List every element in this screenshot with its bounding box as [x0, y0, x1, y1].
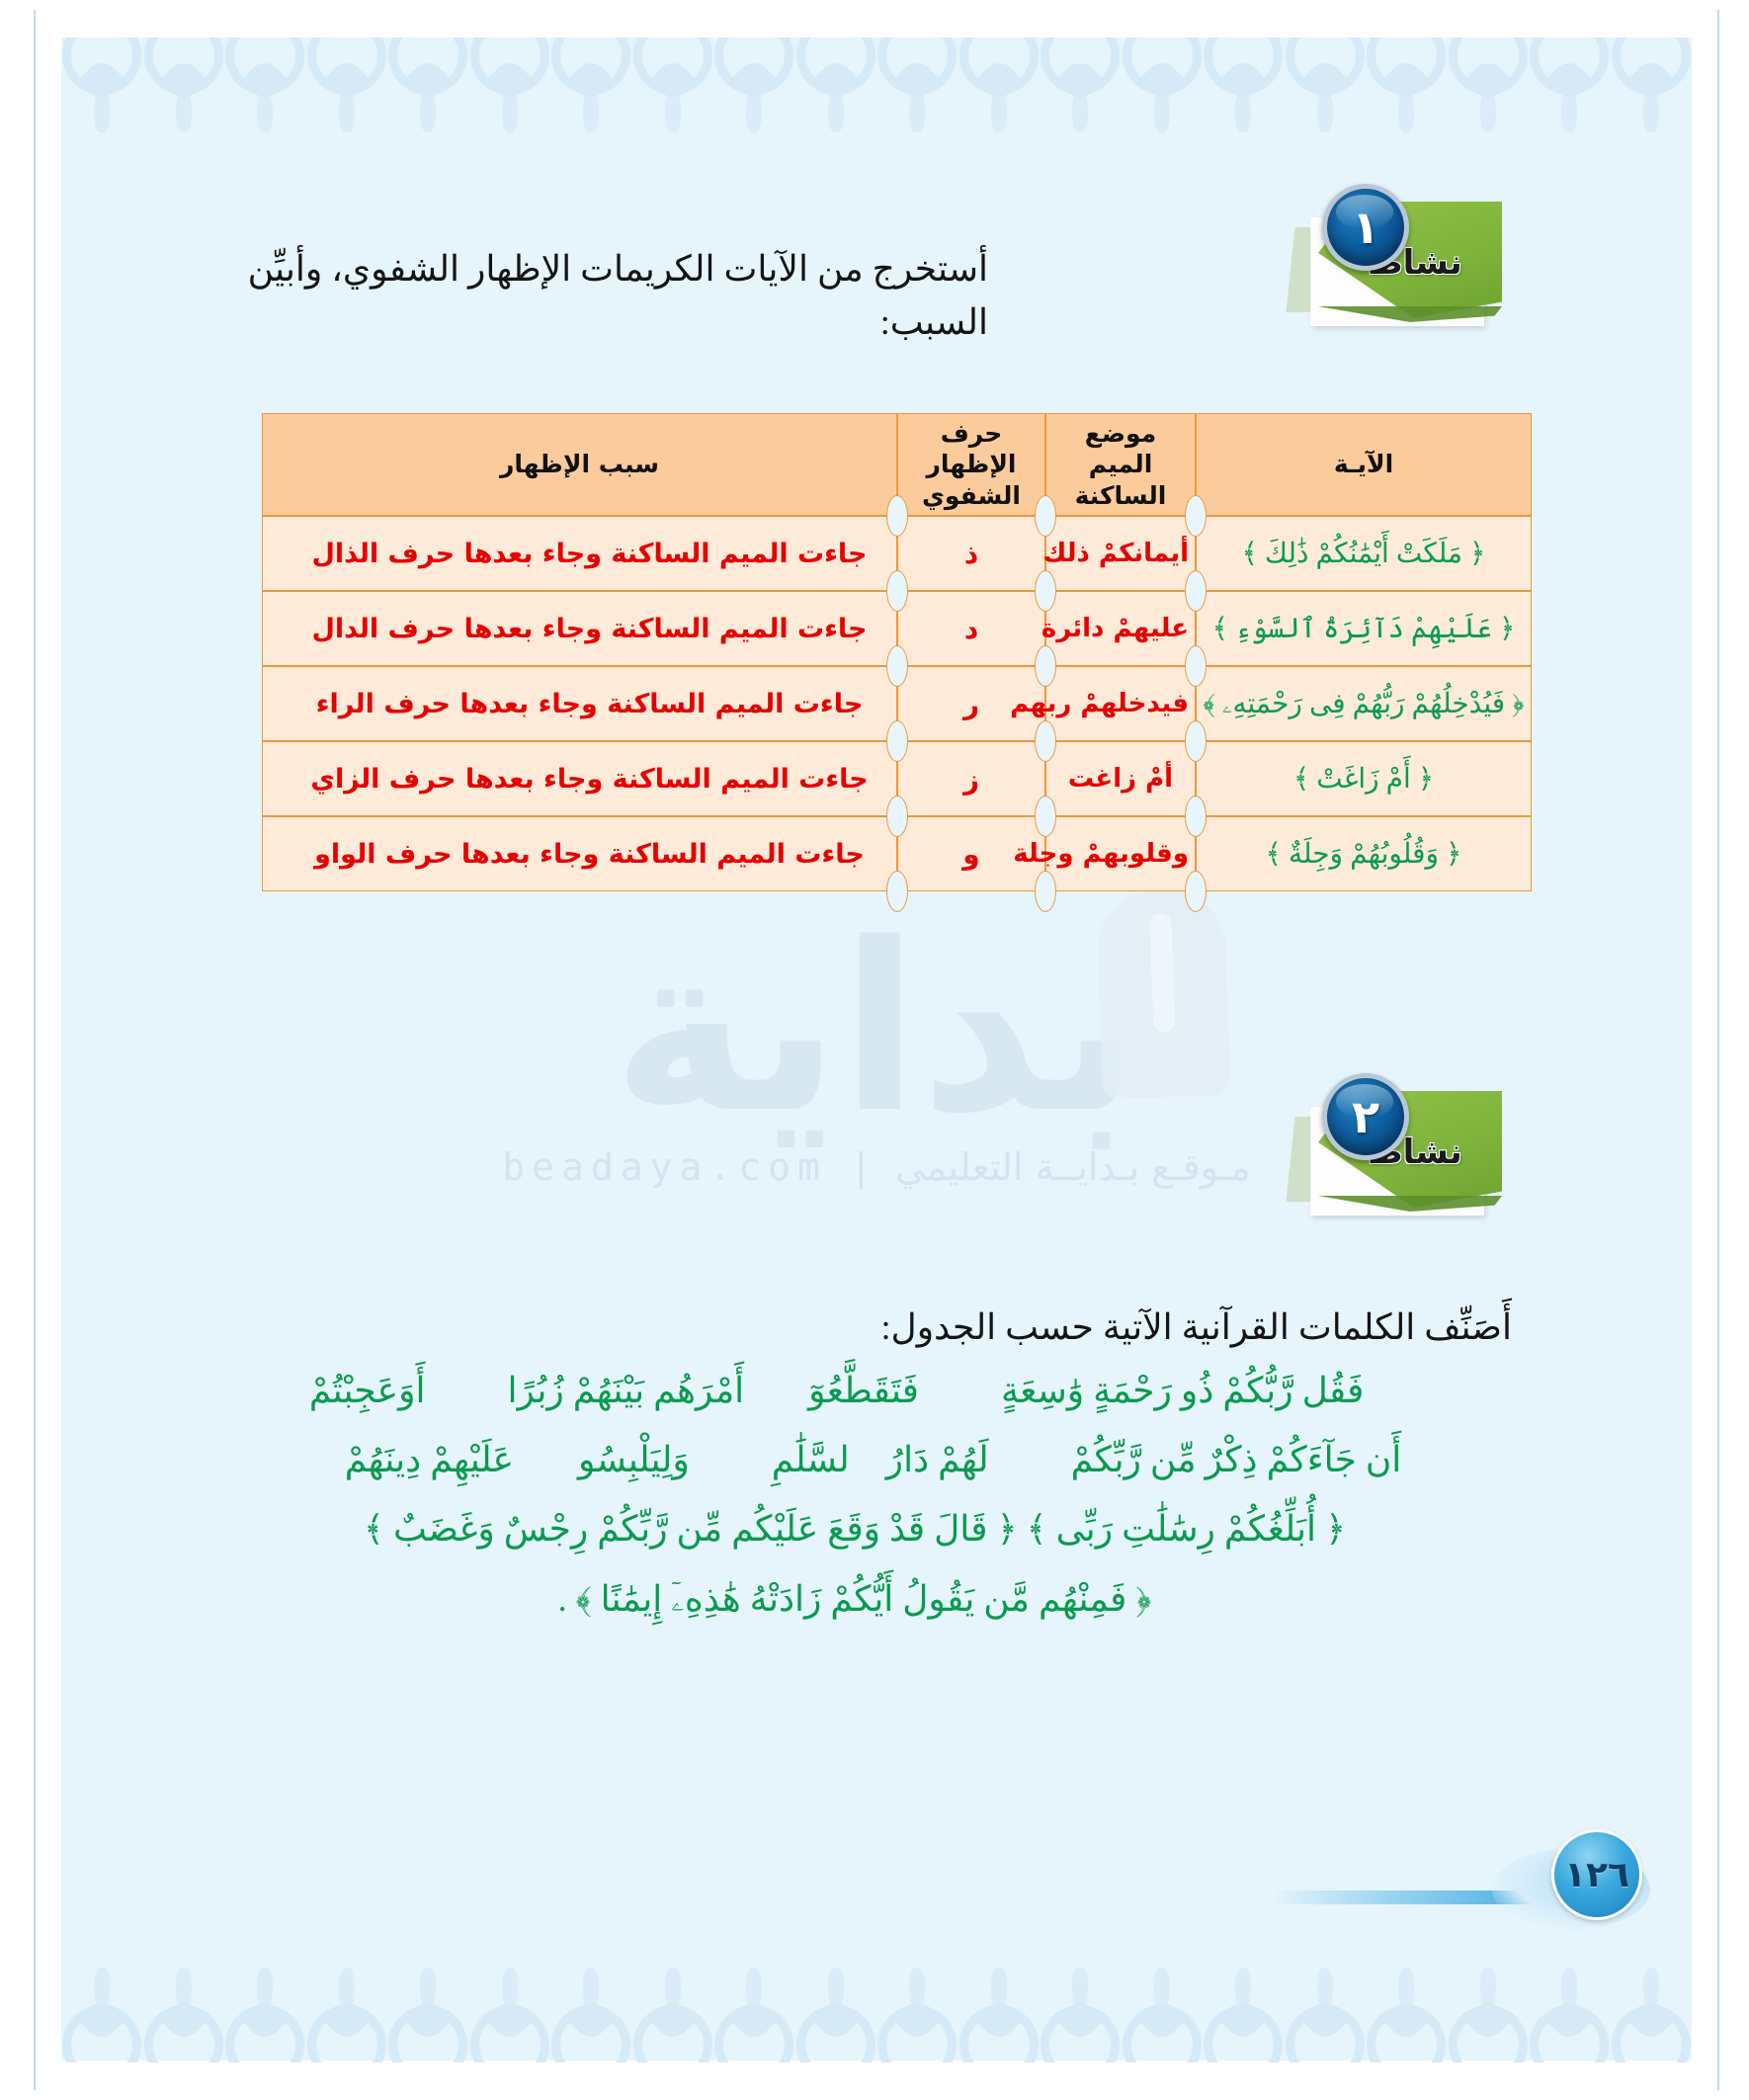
table-row: ﴿ عَلَيْهِمْ دَآئِرَةُ ٱلسَّوْءِ ﴾ عليهم… — [262, 591, 1532, 666]
izhar-letter-answer: ر — [963, 688, 979, 720]
cell-ayah: ﴿ وَقُلُوبُهُمْ وَجِلَةٌ ﴾ — [1196, 816, 1532, 891]
table-row: ﴿ وَقُلُوبُهُمْ وَجِلَةٌ ﴾ وقلوبهمْ وجلة… — [262, 816, 1532, 891]
izhar-letter-answer: و — [962, 838, 979, 871]
meem-place-answer: أمْ زاغت — [1068, 764, 1173, 794]
table-row: ﴿ مَلَكَتْ أَيْمَٰنُكُمْ ذَٰلِكَ ﴾ أيمان… — [262, 516, 1532, 591]
cell-meem-place: وقلوبهمْ وجلة — [1045, 816, 1196, 891]
reason-answer: جاءت الميم الساكنة وجاء بعدها حرف الذال — [311, 539, 867, 569]
table-header-reason: سبب الإظهار — [262, 413, 897, 516]
textbook-page: بداية مـوقـع بـدايــة التعليمي | beadaya… — [0, 0, 1749, 2100]
meem-place-answer: عليهمْ دائرة — [1041, 614, 1189, 643]
cell-ayah: ﴿ عَلَيْهِمْ دَآئِرَةُ ٱلسَّوْءِ ﴾ — [1196, 591, 1532, 666]
table-row: ﴿ أَمْ زَاغَتْ ﴾ أمْ زاغت ز جاءت الميم ا… — [262, 741, 1532, 816]
activity-2-instruction: أَصَنِّف الكلمات القرآنية الآتية حسب الج… — [721, 1301, 1512, 1354]
activity-badge-2: نشاط ٢ — [1285, 1077, 1512, 1230]
cell-meem-place: عليهمْ دائرة — [1045, 591, 1196, 666]
table-header-ayah: الآيـة — [1196, 413, 1532, 516]
ayah-text: ﴿ وَقُلُوبُهُمْ وَجِلَةٌ ﴾ — [1266, 839, 1462, 870]
cell-ayah: ﴿ أَمْ زَاغَتْ ﴾ — [1196, 741, 1532, 816]
cell-ayah: ﴿ مَلَكَتْ أَيْمَٰنُكُمْ ذَٰلِكَ ﴾ — [1196, 516, 1532, 591]
activity-number-2: ٢ — [1352, 1094, 1379, 1139]
quran-words-list: ﴿ فَقُل رَّبُّكُمْ ذُو رَحْمَةٍ وَٰسِعَة… — [148, 1356, 1561, 1634]
page-footer: ١٢٦ — [1273, 1843, 1688, 1934]
cell-reason: جاءت الميم الساكنة وجاء بعدها حرف الراء — [262, 666, 897, 741]
reason-answer: جاءت الميم الساكنة وجاء بعدها حرف الزاي — [310, 764, 869, 795]
activity-number-circle-2: ٢ — [1322, 1073, 1409, 1160]
page-number-badge: ١٢٦ — [1551, 1829, 1642, 1920]
izhar-shafawi-table-wrapper: الآيـة موضع الميم الساكنة حرف الإظهار ال… — [262, 413, 1532, 891]
corner-tick-bottom-right — [1717, 2045, 1719, 2090]
izhar-letter-answer: د — [964, 613, 978, 645]
cell-ayah: ﴿ فَيُدْخِلُهُمْ رَبُّهُمْ فِى رَحْمَتِه… — [1196, 666, 1532, 741]
ayah-text: ﴿ أَمْ زَاغَتْ ﴾ — [1293, 764, 1434, 795]
table-header-meem-place: موضع الميم الساكنة — [1045, 413, 1196, 516]
cell-reason: جاءت الميم الساكنة وجاء بعدها حرف الواو — [262, 816, 897, 891]
table-head: الآيـة موضع الميم الساكنة حرف الإظهار ال… — [262, 413, 1532, 516]
activity-number-circle-1: ١ — [1322, 184, 1409, 271]
cell-meem-place: أمْ زاغت — [1045, 741, 1196, 816]
cell-meem-place: فيدخلهمْ ربهم — [1045, 666, 1196, 741]
table-header-row: الآيـة موضع الميم الساكنة حرف الإظهار ال… — [262, 413, 1532, 516]
quran-line: أَن جَآءَكُمْ ذِكْرٌ مِّن رَّبِّكُمْ ﴾ ﴿… — [148, 1425, 1561, 1494]
corner-tick-top-right — [1717, 10, 1719, 55]
activity-number-1: ١ — [1352, 205, 1379, 250]
cell-meem-place: أيمانكمْ ذلك — [1045, 516, 1196, 591]
corner-tick-top-left — [34, 10, 36, 55]
reason-answer: جاءت الميم الساكنة وجاء بعدها حرف الواو — [314, 839, 865, 870]
quran-line: ﴿ أُبَلِّغُكُمْ رِسَٰلَٰتِ رَبِّى ﴾ ﴿ قَ… — [148, 1494, 1561, 1563]
cell-reason: جاءت الميم الساكنة وجاء بعدها حرف الزاي — [262, 741, 897, 816]
cell-reason: جاءت الميم الساكنة وجاء بعدها حرف الذال — [262, 516, 897, 591]
cell-izhar-letter: ز — [897, 741, 1045, 816]
quran-line: ﴿ فَمِنْهُم مَّن يَقُولُ أَيُّكُمْ زَادَ… — [148, 1564, 1561, 1634]
corner-tick-bottom-left — [34, 2045, 36, 2090]
ayah-text: ﴿ مَلَكَتْ أَيْمَٰنُكُمْ ذَٰلِكَ ﴾ — [1242, 539, 1486, 569]
table-body: ﴿ مَلَكَتْ أَيْمَٰنُكُمْ ذَٰلِكَ ﴾ أيمان… — [262, 516, 1532, 891]
reason-answer: جاءت الميم الساكنة وجاء بعدها حرف الراء — [316, 689, 864, 719]
izhar-shafawi-table: الآيـة موضع الميم الساكنة حرف الإظهار ال… — [262, 413, 1532, 891]
table-row: ﴿ فَيُدْخِلُهُمْ رَبُّهُمْ فِى رَحْمَتِه… — [262, 666, 1532, 741]
meem-place-answer: أيمانكمْ ذلك — [1042, 539, 1189, 568]
activity-1-instruction: أستخرج من الآيات الكريمات الإظهار الشفوي… — [178, 242, 988, 349]
activity-badge-1: نشاط ١ — [1285, 188, 1512, 341]
quran-line: ﴿ فَقُل رَّبُّكُمْ ذُو رَحْمَةٍ وَٰسِعَة… — [148, 1356, 1561, 1425]
meem-place-answer: وقلوبهمْ وجلة — [1013, 839, 1189, 869]
cell-izhar-letter: ذ — [897, 516, 1045, 591]
izhar-letter-answer: ذ — [964, 538, 978, 570]
table-header-izhar-letter: حرف الإظهار الشفوي — [897, 413, 1045, 516]
reason-answer: جاءت الميم الساكنة وجاء بعدها حرف الدال — [311, 614, 867, 644]
cell-izhar-letter: د — [897, 591, 1045, 666]
cell-reason: جاءت الميم الساكنة وجاء بعدها حرف الدال — [262, 591, 897, 666]
ayah-text: ﴿ فَيُدْخِلُهُمْ رَبُّهُمْ فِى رَحْمَتِه… — [1203, 689, 1524, 719]
izhar-letter-answer: ز — [963, 763, 979, 796]
ayah-text: ﴿ عَلَيْهِمْ دَآئِرَةُ ٱلسَّوْءِ ﴾ — [1212, 614, 1516, 644]
meem-place-answer: فيدخلهمْ ربهم — [1010, 689, 1189, 718]
page-number: ١٢٦ — [1564, 1855, 1629, 1895]
